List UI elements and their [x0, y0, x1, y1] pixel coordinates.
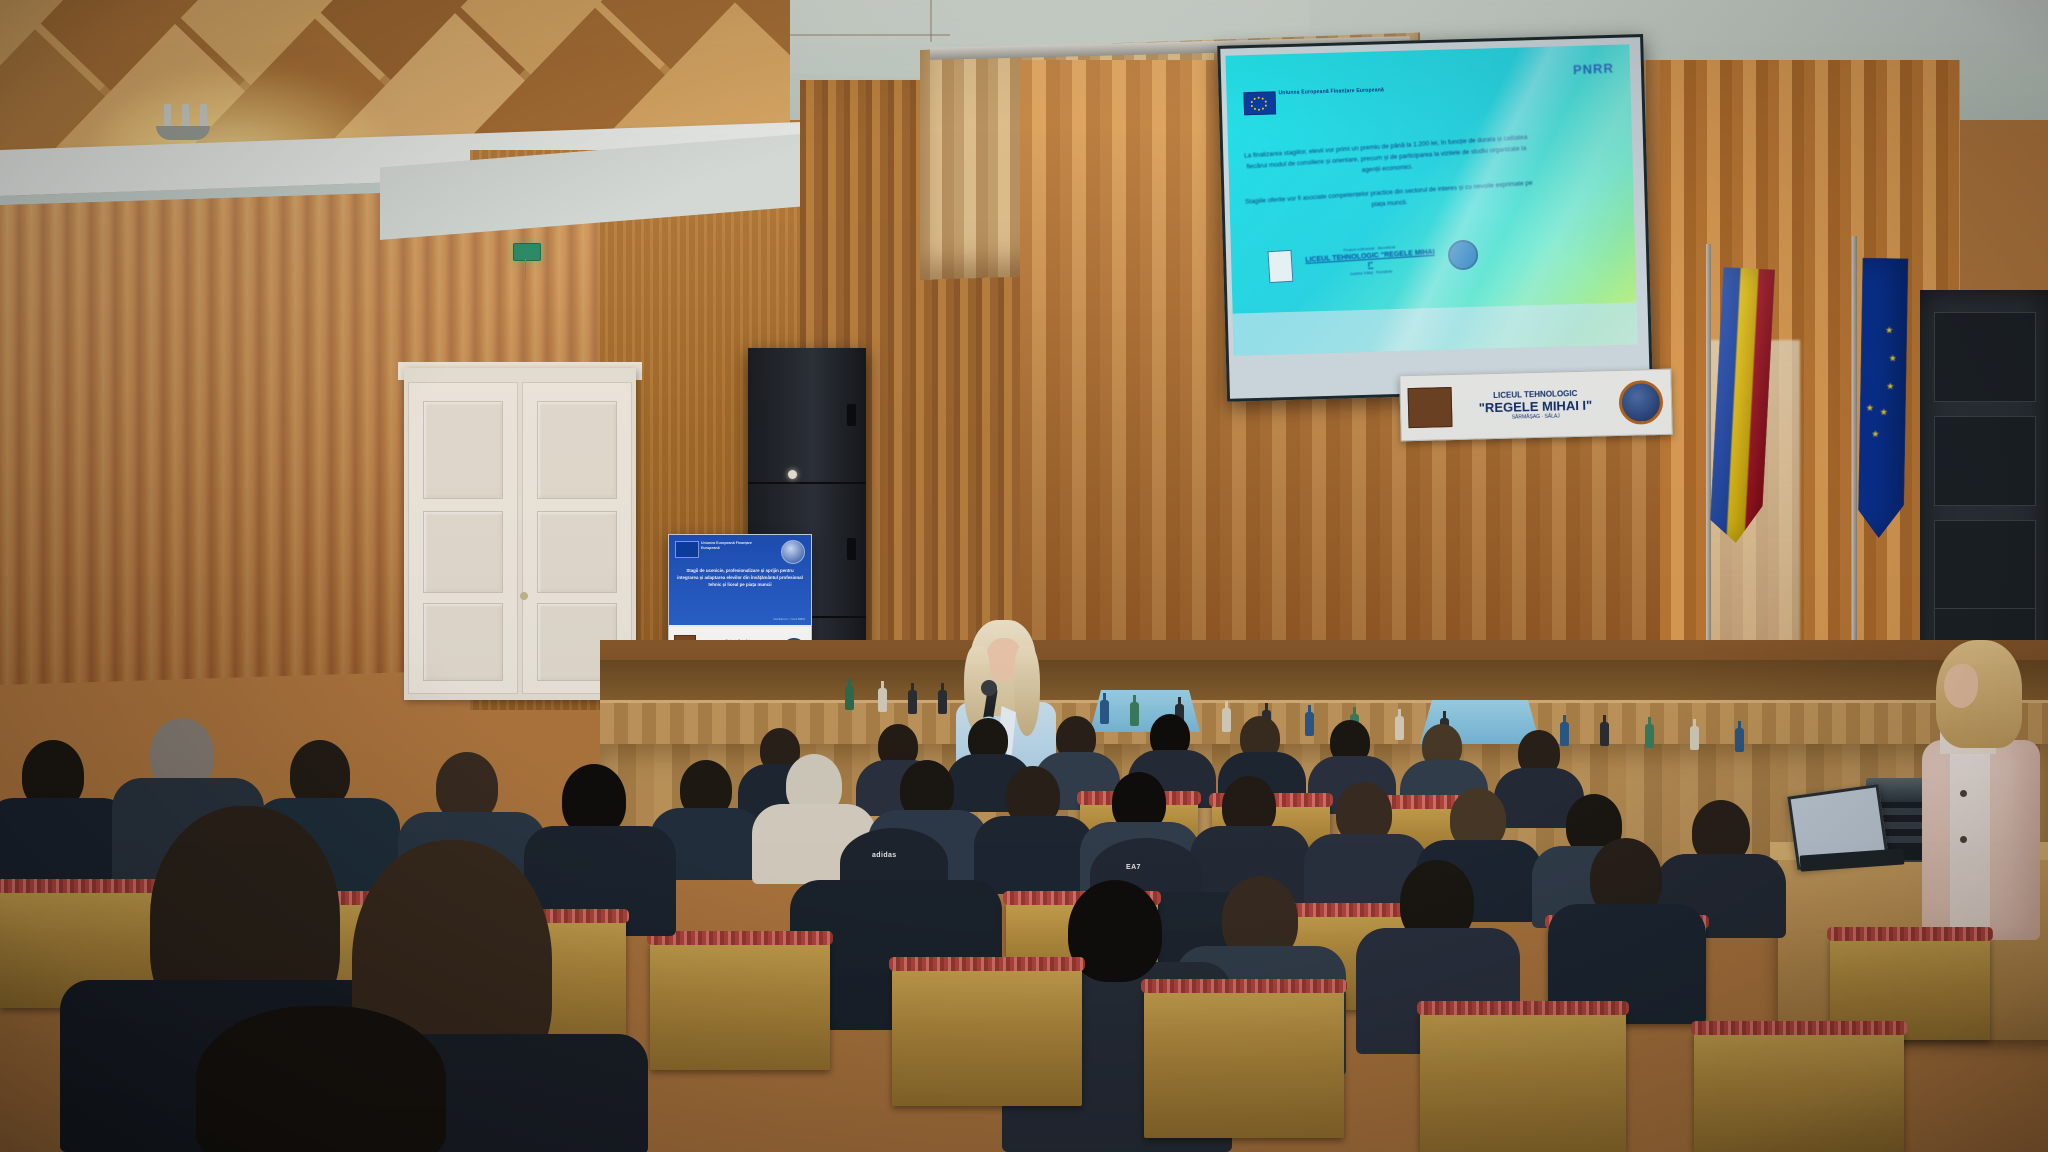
- bronze-seal-medallion: [1618, 380, 1663, 425]
- cap-ea7-logo: EA7: [1126, 864, 1141, 871]
- pa-speaker-stack: [1920, 290, 2048, 700]
- decorative-bottle-lamp: [1645, 724, 1654, 748]
- staff-face: [1944, 664, 1978, 708]
- decorative-bottle-lamp: [1100, 700, 1109, 724]
- foreground-head: [196, 1006, 446, 1152]
- auditorium-seat[interactable]: [1420, 1010, 1626, 1152]
- wall-plaque: LICEUL TEHNOLOGIC "REGELE MIHAI I" SĂRMĂ…: [1399, 369, 1673, 442]
- auditorium-seat[interactable]: [1694, 1030, 1904, 1152]
- auditorium-seat[interactable]: [1144, 988, 1344, 1138]
- decorative-bottle-lamp: [1222, 708, 1231, 732]
- projection-screen: Uniunea Europeană Finanțare Europeană PN…: [1217, 34, 1647, 396]
- banner-headline: Stagii de ucenicie, profesionalizare și …: [677, 567, 803, 588]
- auditorium-seat[interactable]: [892, 966, 1082, 1106]
- decorative-bottle-lamp: [1600, 722, 1609, 746]
- banner-eu-caption: Uniunea Europeană Finanțare Europeană: [701, 541, 771, 551]
- decorative-bottle-lamp: [845, 686, 854, 710]
- decorative-bottle-lamp: [1560, 722, 1569, 746]
- coat-button: [1960, 790, 1967, 797]
- decorative-bottle-lamp: [1735, 728, 1744, 752]
- emergency-exit-sign: [513, 243, 541, 261]
- european-union-flag: ★ ★ ★ ★ ★ ★: [1858, 258, 1909, 539]
- coat-of-arms-crest: [1408, 387, 1453, 428]
- cap-adidas-logo: adidas: [872, 852, 897, 859]
- door-handle[interactable]: [520, 592, 528, 600]
- stage-curtain-right: [1660, 60, 1960, 700]
- banner-header: Uniunea Europeană Finanțare Europeană St…: [669, 535, 811, 625]
- banner-seal-logo: [781, 540, 805, 564]
- eu-flag-icon: [675, 541, 699, 558]
- decorative-bottle-lamp: [1130, 702, 1139, 726]
- flagpole-eu: [1852, 236, 1857, 706]
- decorative-bottle-lamp: [908, 690, 917, 714]
- auditorium-seat[interactable]: [650, 940, 830, 1070]
- auditorium-photo: Uniunea Europeană Finanțare Europeană PN…: [0, 0, 2048, 1152]
- staff-member-standing: [1900, 640, 2048, 940]
- exit-sign-wire: [525, 259, 526, 279]
- audience-shoulders: [974, 816, 1094, 894]
- door-leaf-left[interactable]: [408, 382, 518, 694]
- banner-reference-code: Contract nr. / Cod SMIS: [773, 617, 805, 621]
- decorative-bottle-lamp: [1395, 716, 1404, 740]
- decorative-bottle-lamp: [1690, 726, 1699, 750]
- plaque-text-block: LICEUL TEHNOLOGIC "REGELE MIHAI I" SĂRMĂ…: [1452, 387, 1620, 422]
- coat-inner-panel: [1950, 748, 1990, 938]
- decorative-bottle-lamp: [1305, 712, 1314, 736]
- decorative-bottle-lamp: [878, 688, 887, 712]
- screen-glare: [1225, 44, 1637, 355]
- presenter-hair-right: [1014, 646, 1040, 736]
- speaker-power-led: [788, 470, 797, 479]
- microphone-head: [981, 680, 997, 696]
- coat-button: [1960, 836, 1967, 843]
- stage-rail: [600, 700, 2048, 749]
- wall-sconce-lamp: [150, 98, 220, 140]
